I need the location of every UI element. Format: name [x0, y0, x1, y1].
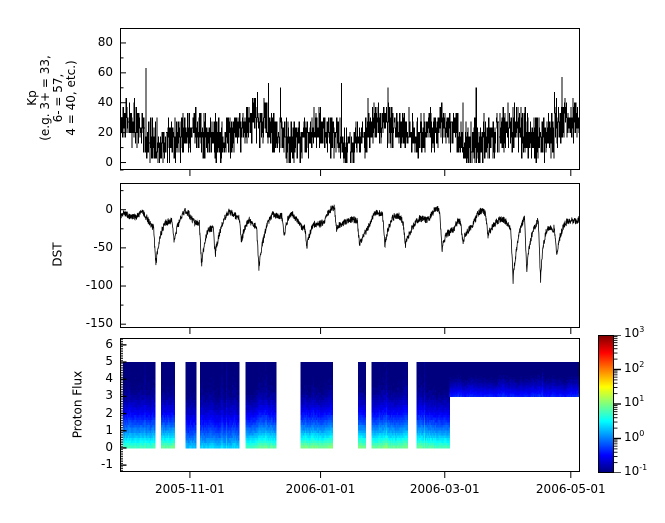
figure-root: Kp (e.g. 3+ = 33, 6- = 57, 4 = 40, etc.)…: [0, 0, 665, 523]
xtick-label: 2006-05-01: [527, 482, 615, 496]
ytick-label: 80: [0, 35, 113, 49]
ytick-label: 2: [0, 406, 113, 420]
ytick-label: -100: [0, 278, 113, 292]
ytick-label: 4: [0, 371, 113, 385]
xtick-label: 2005-11-01: [146, 482, 234, 496]
ytick-label: 0: [0, 202, 113, 216]
ytick-label: 3: [0, 388, 113, 402]
xtick-label: 2006-01-01: [277, 482, 365, 496]
dst-axis-label: DST: [52, 225, 65, 285]
ytick-label: 0: [0, 155, 113, 169]
colorbar: [598, 335, 614, 473]
proton-flux-axis-ticks: [106, 338, 586, 483]
ytick-label: 1: [0, 423, 113, 437]
xtick-label: 2006-03-01: [401, 482, 489, 496]
ytick-label: -50: [0, 240, 113, 254]
ytick-label: -1: [0, 457, 113, 471]
ytick-label: 40: [0, 95, 113, 109]
ytick-label: 60: [0, 65, 113, 79]
ytick-label: 6: [0, 337, 113, 351]
colorbar-tick-label: 102: [624, 360, 644, 375]
dst-axis-ticks: [106, 183, 586, 338]
ytick-label: 0: [0, 440, 113, 454]
ytick-label: 5: [0, 354, 113, 368]
colorbar-tick-label: 10-1: [624, 463, 647, 478]
colorbar-tick-label: 100: [624, 429, 644, 444]
kp-axis-ticks: [106, 28, 586, 178]
colorbar-tick-label: 101: [624, 394, 644, 409]
colorbar-tick-label: 103: [624, 325, 644, 340]
ytick-label: -150: [0, 316, 113, 330]
ytick-label: 20: [0, 125, 113, 139]
